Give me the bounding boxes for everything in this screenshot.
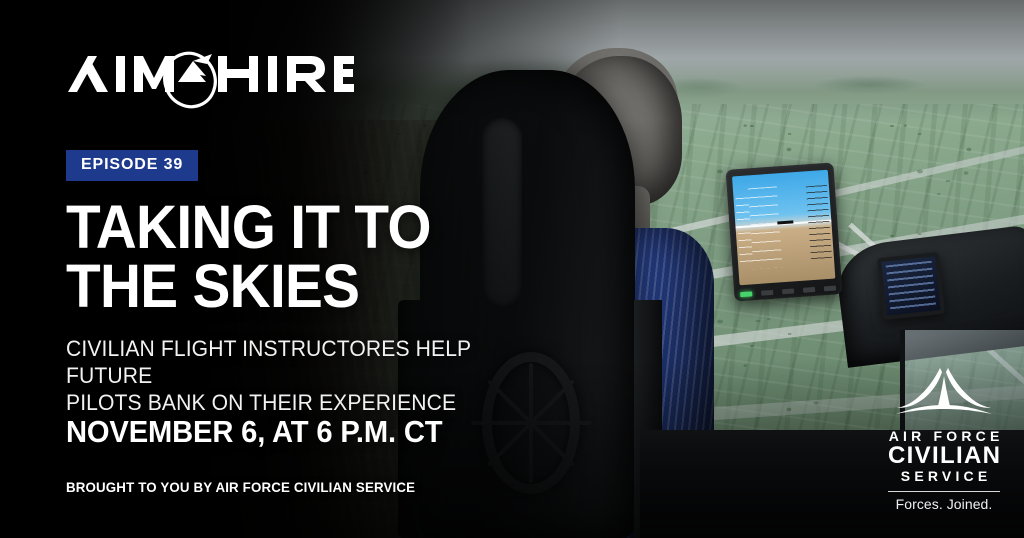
afcs-divider [888,491,1000,492]
air-force-civilian-service-logo: AIR FORCE CIVILIAN SERVICE Forces. Joine… [878,366,1010,506]
subtitle: CIVILIAN FLIGHT INSTRUCTORES HELP FUTURE… [66,336,546,416]
page-title: TAKING IT TO THE SKIES [66,198,503,315]
content-layer: EPISODE 39 TAKING IT TO THE SKIES CIVILI… [0,0,1024,538]
attribution-line: BROUGHT TO YOU BY AIR FORCE CIVILIAN SER… [66,479,415,495]
episode-badge: EPISODE 39 [66,150,198,181]
subtitle-line-1: CIVILIAN FLIGHT INSTRUCTORES HELP FUTURE [66,336,546,390]
event-datetime: NOVEMBER 6, AT 6 P.M. CT [66,414,442,450]
promo-graphic: EPISODE 39 TAKING IT TO THE SKIES CIVILI… [0,0,1024,538]
afcs-wings-icon [878,366,1010,424]
afcs-line-2: CIVILIAN [878,444,1010,469]
afcs-line-3: SERVICE [878,469,1010,484]
headline-line-1: TAKING IT TO [66,198,503,257]
afcs-tagline: Forces. Joined. [878,496,1010,512]
headline-line-2: THE SKIES [66,257,503,316]
aim-hire-logo [66,48,356,110]
subtitle-line-2: PILOTS BANK ON THEIR EXPERIENCE [66,390,546,417]
